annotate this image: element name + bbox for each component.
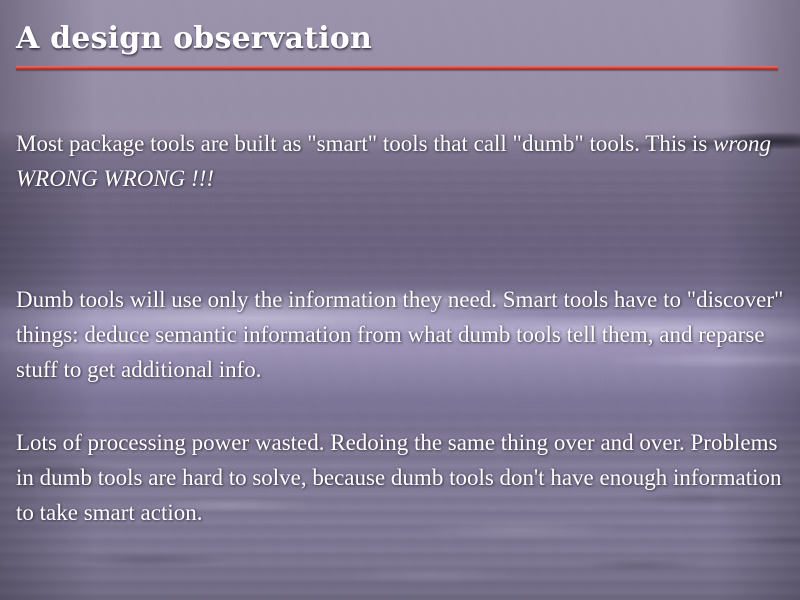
title-underline-rule — [16, 66, 778, 70]
paragraph-text-run: Dumb tools will use only the information… — [16, 287, 783, 382]
presentation-slide: A design observation Most package tools … — [0, 0, 800, 600]
body-paragraph: Most package tools are built as "smart" … — [16, 126, 788, 196]
body-paragraph: Dumb tools will use only the information… — [16, 282, 788, 387]
slide-content: A design observation Most package tools … — [0, 0, 800, 600]
slide-title: A design observation — [16, 22, 372, 56]
body-paragraph: Lots of processing power wasted. Redoing… — [16, 425, 788, 530]
paragraph-text-run: Most package tools are built as "smart" … — [16, 131, 713, 156]
paragraph-text-run: Lots of processing power wasted. Redoing… — [16, 430, 782, 525]
slide-body: Most package tools are built as "smart" … — [16, 126, 788, 530]
